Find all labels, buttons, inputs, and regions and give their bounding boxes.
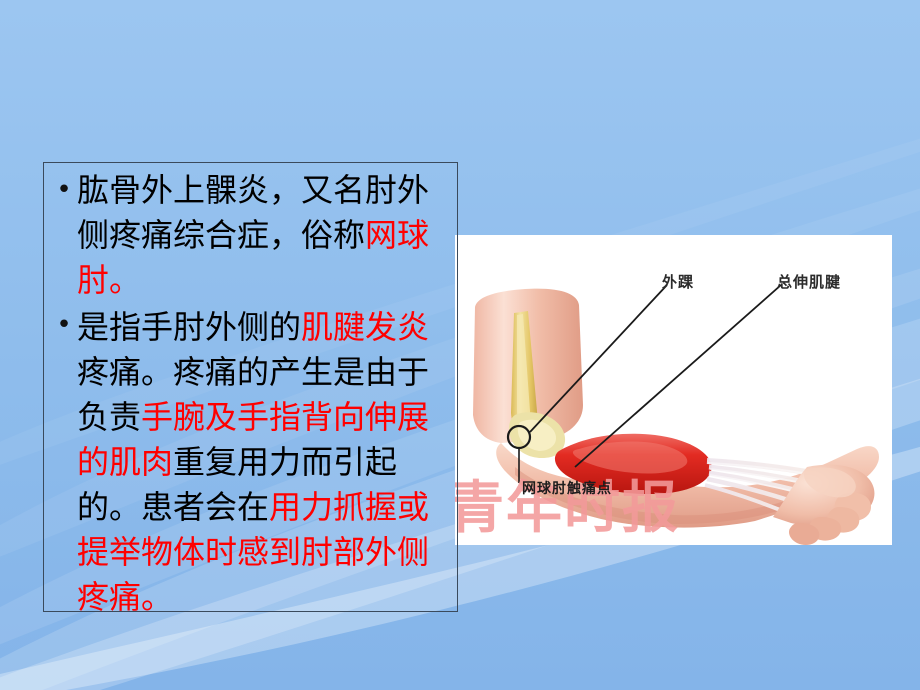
bullet-marker: • xyxy=(51,168,77,212)
label-common-extensor-tendon: 总伸肌腱 xyxy=(777,271,841,292)
label-tender-point: 网球肘触痛点 xyxy=(522,478,612,498)
bullet-paragraph-2: 是指手肘外侧的肌腱发炎疼痛。疼痛的产生是由于负责手腕及手指背向伸展的肌肉重复用力… xyxy=(77,305,454,620)
slide-canvas: 青年时报 外踝 总伸肌腱 网球肘触痛点 • 肱骨外上髁炎，又名肘外侧疼痛综合症，… xyxy=(0,0,920,690)
anatomy-illustration-panel: 青年时报 外踝 总伸肌腱 网球肘触痛点 xyxy=(455,235,892,545)
text-run: 是指手肘外侧的 xyxy=(77,308,301,346)
text-run: 。 xyxy=(109,261,141,299)
bullet-item: • 是指手肘外侧的肌腱发炎疼痛。疼痛的产生是由于负责手腕及手指背向伸展的肌肉重复… xyxy=(51,303,454,620)
content-textbox: • 肱骨外上髁炎，又名肘外侧疼痛综合症，俗称网球肘。 • 是指手肘外侧的肌腱发炎… xyxy=(43,162,458,620)
bullet-marker: • xyxy=(51,303,77,347)
bullet-paragraph-1: 肱骨外上髁炎，又名肘外侧疼痛综合症，俗称网球肘。 xyxy=(77,168,454,303)
label-lateral-epicondyle: 外踝 xyxy=(662,271,694,292)
text-run: 肌腱发炎 xyxy=(301,308,429,346)
bullet-item: • 肱骨外上髁炎，又名肘外侧疼痛综合症，俗称网球肘。 xyxy=(51,168,454,303)
